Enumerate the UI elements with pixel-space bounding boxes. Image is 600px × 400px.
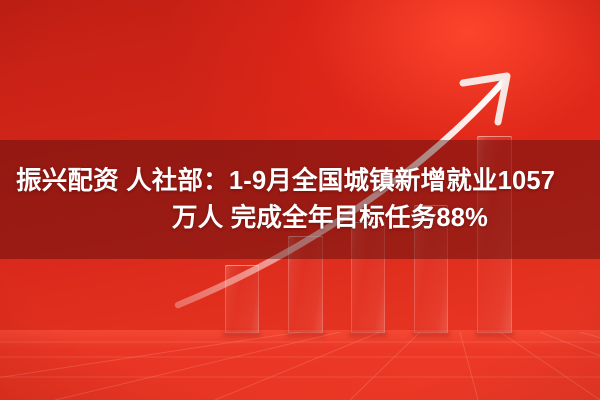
headline-line-2: 万人 完成全年目标任务88% [172,200,488,236]
headline-block: 振兴配资 人社部：1-9月全国城镇新增就业1057 万人 完成全年目标任务88% [0,140,600,259]
headline-line-1: 振兴配资 人社部：1-9月全国城镇新增就业1057 [16,163,555,199]
banner-image: 振兴配资 人社部：1-9月全国城镇新增就业1057 万人 完成全年目标任务88% [0,0,600,400]
